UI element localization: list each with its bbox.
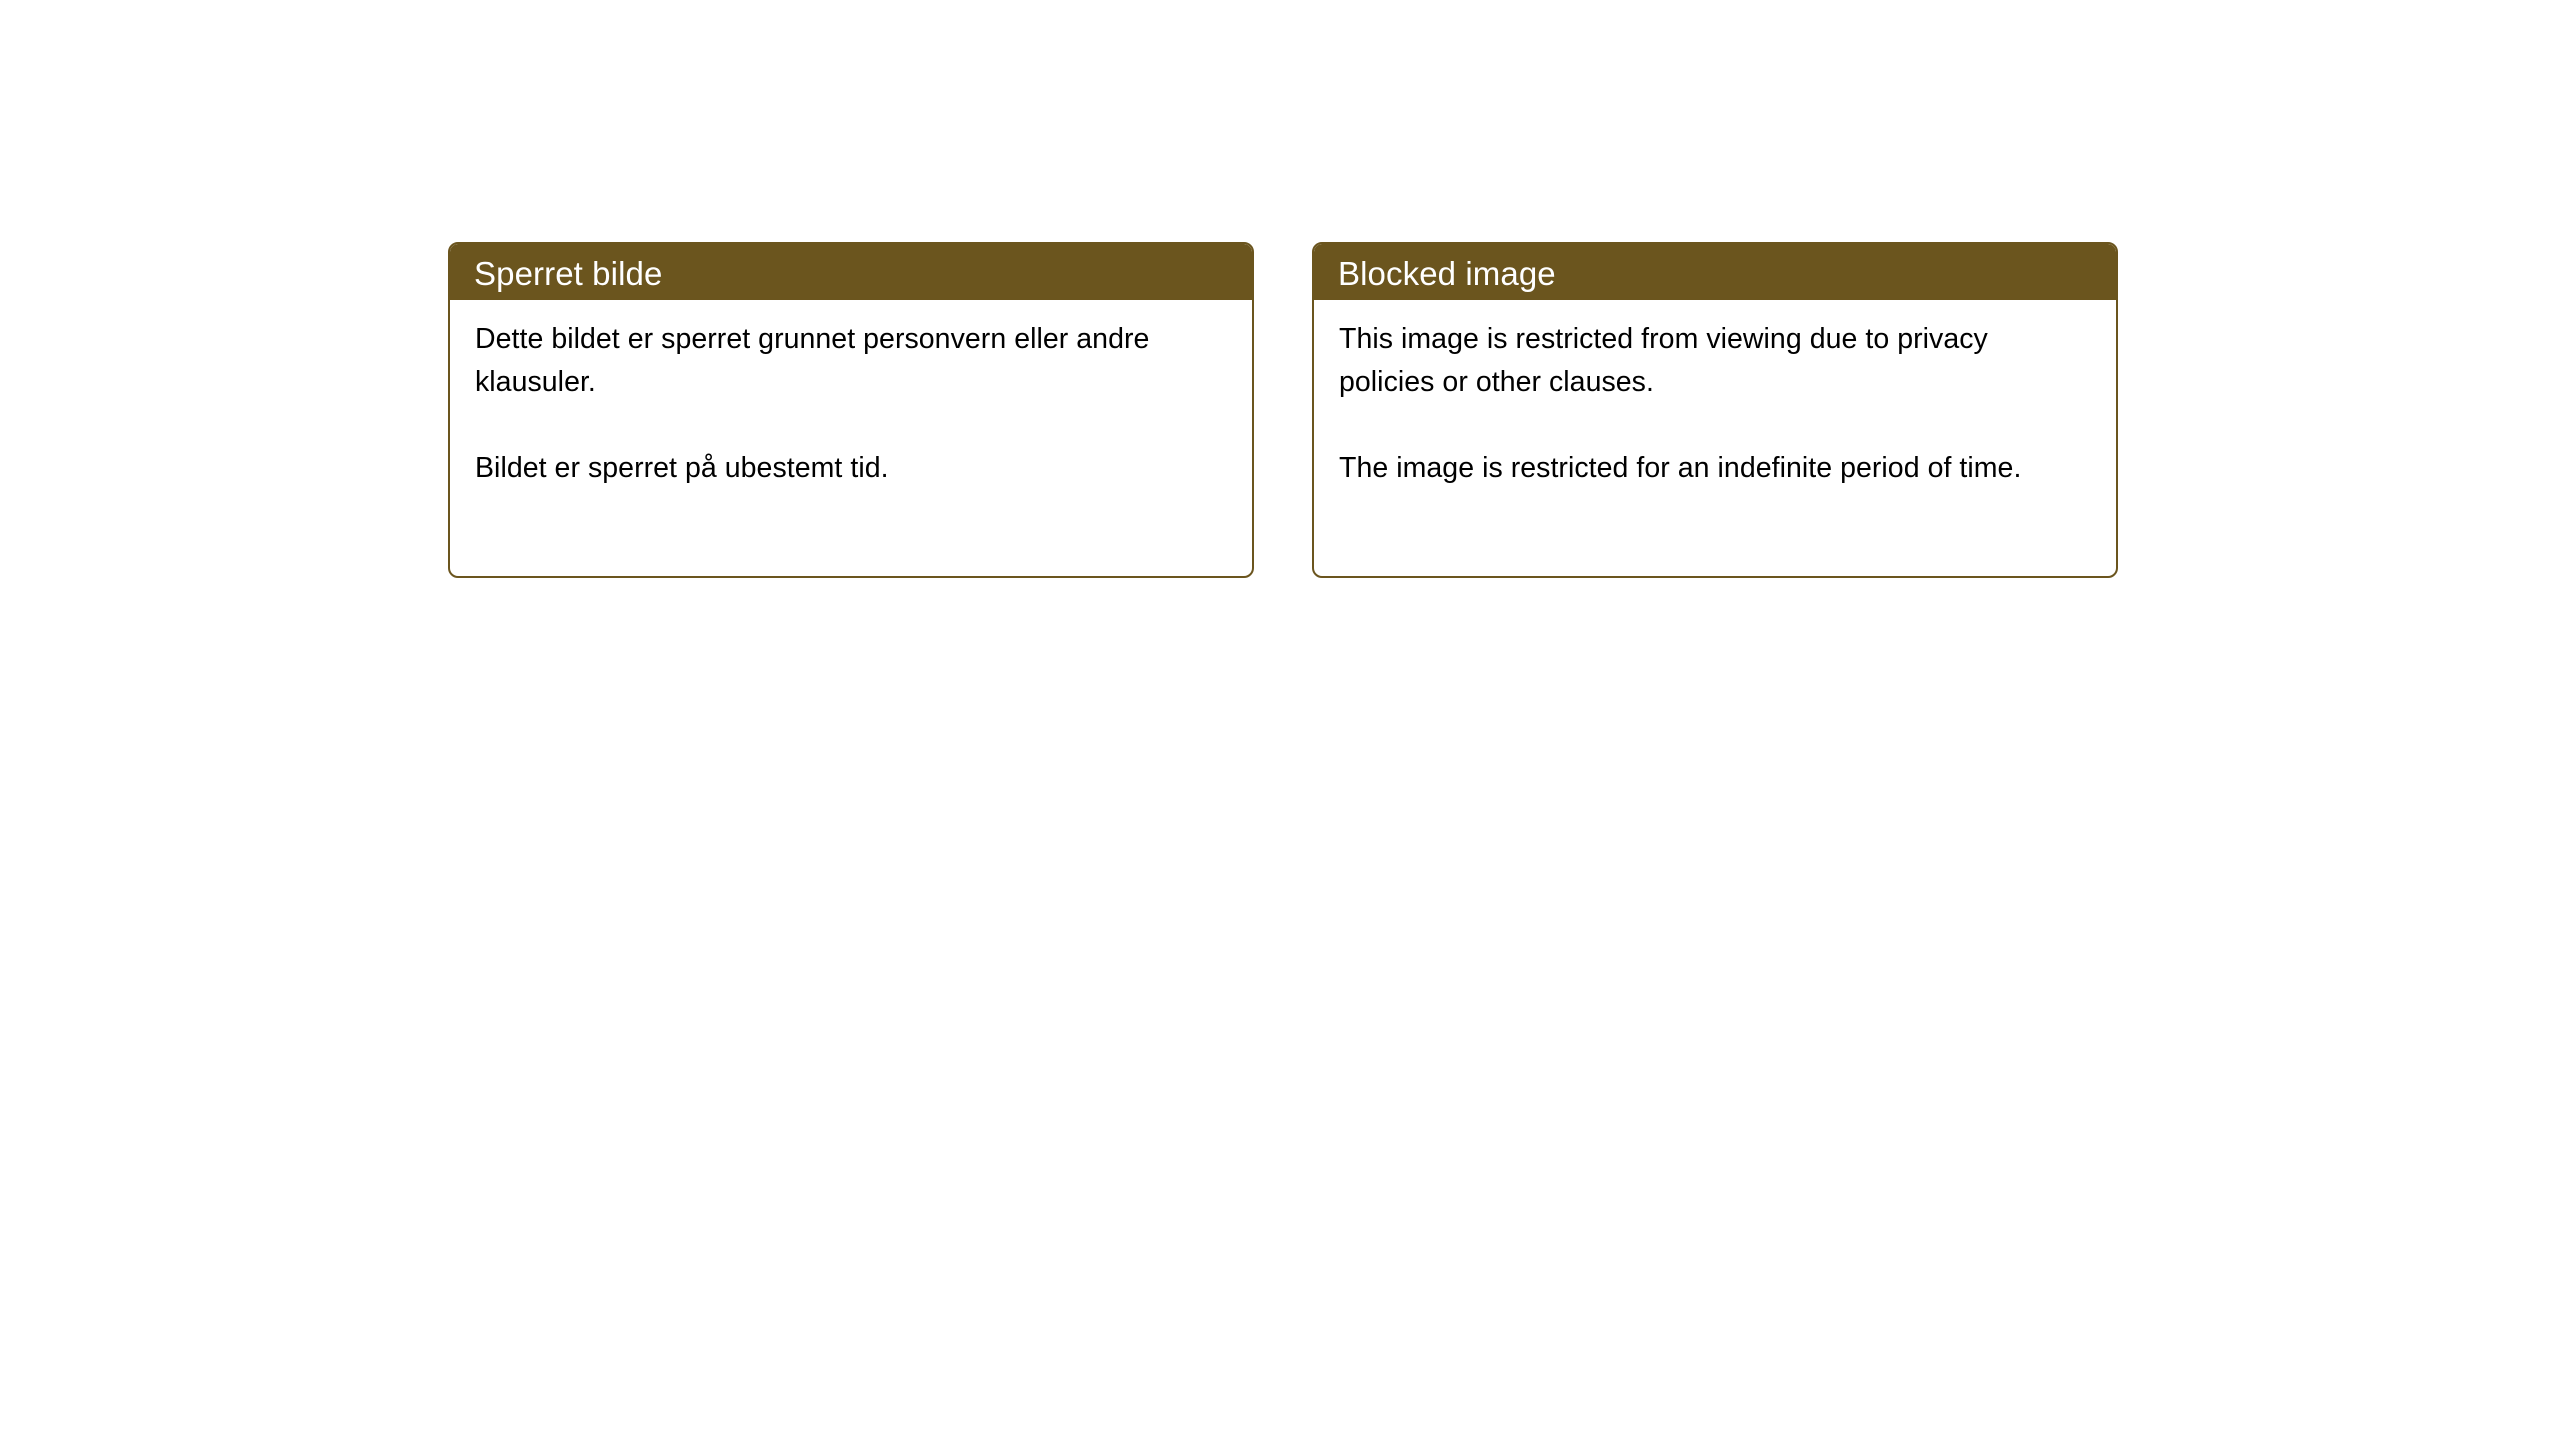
notice-card-paragraph-secondary-en: The image is restricted for an indefinit… [1339,447,2090,490]
notice-card-paragraph-primary-en: This image is restricted from viewing du… [1339,318,2090,404]
notice-card-header-en: Blocked image [1314,244,2116,300]
blocked-image-notice-card-en: Blocked image This image is restricted f… [1312,242,2118,578]
notice-card-body-en: This image is restricted from viewing du… [1314,300,2116,490]
notice-card-title-no: Sperret bilde [474,257,662,290]
notice-card-body-no: Dette bildet er sperret grunnet personve… [450,300,1252,490]
blocked-image-notice-card-no: Sperret bilde Dette bildet er sperret gr… [448,242,1254,578]
page-root: Sperret bilde Dette bildet er sperret gr… [0,0,2560,1440]
notice-card-title-en: Blocked image [1338,257,1556,290]
notice-card-paragraph-secondary-no: Bildet er sperret på ubestemt tid. [475,447,1226,490]
notice-card-paragraph-primary-no: Dette bildet er sperret grunnet personve… [475,318,1226,404]
notice-card-header-no: Sperret bilde [450,244,1252,300]
